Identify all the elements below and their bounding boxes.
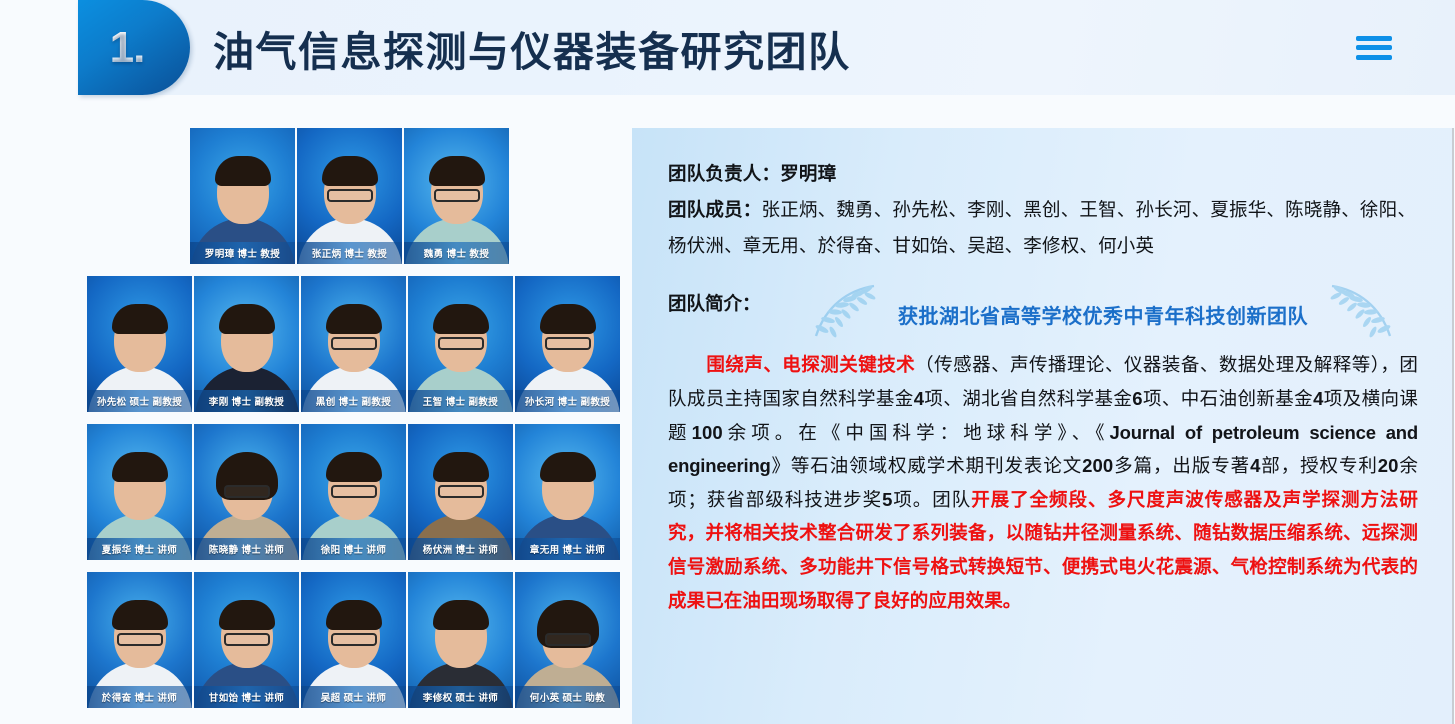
desc-seg7: 多篇，出版专著 (1113, 455, 1250, 476)
desc-seg6: 》等石油领域权威学术期刊发表论文 (771, 455, 1083, 476)
portrait-glasses (117, 633, 163, 646)
laurel-branch-left-icon (808, 282, 882, 346)
photo-row: 孙先松 硕士 副教授李刚 博士 副教授黑创 博士 副教授王智 博士 副教授孙长河… (87, 276, 617, 412)
member-photo-card[interactable]: 章无用 博士 讲师 (515, 424, 620, 560)
section-number-badge: 1. (78, 0, 190, 95)
portrait-hair (326, 452, 382, 482)
portrait-hair (433, 304, 489, 334)
portrait-glasses (327, 189, 373, 202)
member-photo-card[interactable]: 黑创 博士 副教授 (301, 276, 406, 412)
portrait-glasses (438, 485, 484, 498)
desc-seg8: 部，授权专利 (1260, 455, 1377, 476)
portrait-glasses (331, 633, 377, 646)
portrait-hair (326, 600, 382, 630)
menu-bar-2 (1356, 45, 1392, 50)
menu-bar-3 (1356, 55, 1392, 60)
hamburger-menu-icon[interactable] (1356, 36, 1392, 60)
photo-row: 夏振华 博士 讲师陈晓静 博士 讲师徐阳 博士 讲师杨伏洲 博士 讲师章无用 博… (87, 424, 617, 560)
portrait-glasses (331, 485, 377, 498)
member-photo-caption: 夏振华 博士 讲师 (87, 538, 192, 560)
team-leader-label: 团队负责人： (668, 163, 780, 184)
team-description-paragraph: 围绕声、电探测关键技术（传感器、声传播理论、仪器装备、数据处理及解释等），团队成… (668, 348, 1418, 617)
portrait-hair (112, 452, 168, 482)
section-number-label: 1. (78, 23, 176, 73)
member-photo-caption: 孙长河 博士 副教授 (515, 390, 620, 412)
member-photo-card[interactable]: 甘如饴 博士 讲师 (194, 572, 299, 708)
portrait-glasses (331, 337, 377, 350)
member-photo-caption: 杨伏洲 博士 讲师 (408, 538, 513, 560)
desc-seg2: 项、湖北省自然科学基金 (924, 388, 1132, 409)
member-photo-caption: 何小英 硕士 助教 (515, 686, 620, 708)
member-photo-caption: 王智 博士 副教授 (408, 390, 513, 412)
member-photo-card[interactable]: 孙长河 博士 副教授 (515, 276, 620, 412)
page-root: 1. 油气信息探测与仪器装备研究团队 罗明璋 博士 教授张正炳 博士 教授魏勇 … (0, 0, 1455, 724)
member-photo-card[interactable]: 王智 博士 副教授 (408, 276, 513, 412)
desc-num-8: 5 (882, 489, 892, 510)
desc-num-2: 6 (1132, 388, 1142, 409)
portrait-glasses (438, 337, 484, 350)
portrait-hair (219, 304, 275, 334)
member-photo-card[interactable]: 李刚 博士 副教授 (194, 276, 299, 412)
photo-row: 罗明璋 博士 教授张正炳 博士 教授魏勇 博士 教授 (190, 128, 617, 264)
member-photo-caption: 陈晓静 博士 讲师 (194, 538, 299, 560)
desc-num-7: 20 (1378, 455, 1399, 476)
desc-seg10: 项。团队 (892, 489, 971, 510)
desc-num-1: 4 (914, 388, 924, 409)
member-photo-caption: 罗明璋 博士 教授 (190, 242, 295, 264)
portrait-hair (215, 156, 271, 186)
member-photo-caption: 魏勇 博士 教授 (404, 242, 509, 264)
member-photo-card[interactable]: 陈晓静 博士 讲师 (194, 424, 299, 560)
member-photo-card[interactable]: 吴超 硕士 讲师 (301, 572, 406, 708)
member-photo-card[interactable]: 张正炳 博士 教授 (297, 128, 402, 264)
member-photo-card[interactable]: 孙先松 硕士 副教授 (87, 276, 192, 412)
member-photo-caption: 於得奋 博士 讲师 (87, 686, 192, 708)
portrait-hair (540, 452, 596, 482)
team-members-label: 团队成员： (668, 199, 762, 220)
portrait-glasses (434, 189, 480, 202)
award-banner: 获批湖北省高等学校优秀中青年科技创新团队 (798, 286, 1408, 342)
member-photo-card[interactable]: 徐阳 博士 讲师 (301, 424, 406, 560)
member-photo-card[interactable]: 何小英 硕士 助教 (515, 572, 620, 708)
team-photo-grid: 罗明璋 博士 教授张正炳 博士 教授魏勇 博士 教授孙先松 硕士 副教授李刚 博… (87, 128, 617, 724)
desc-red-lead: 围绕声、电探测关键技术 (706, 354, 915, 375)
member-photo-card[interactable]: 於得奋 博士 讲师 (87, 572, 192, 708)
member-photo-caption: 张正炳 博士 教授 (297, 242, 402, 264)
member-photo-card[interactable]: 李修权 硕士 讲师 (408, 572, 513, 708)
member-photo-caption: 徐阳 博士 讲师 (301, 538, 406, 560)
portrait-hair (326, 304, 382, 334)
portrait-hair (433, 600, 489, 630)
portrait-hair (433, 452, 489, 482)
page-header: 1. 油气信息探测与仪器装备研究团队 (78, 0, 1455, 95)
photo-row: 於得奋 博士 讲师甘如饴 博士 讲师吴超 硕士 讲师李修权 硕士 讲师何小英 硕… (87, 572, 617, 708)
portrait-hair (112, 600, 168, 630)
portrait-hair (429, 156, 485, 186)
member-photo-card[interactable]: 罗明璋 博士 教授 (190, 128, 295, 264)
desc-seg5: 余项。在《中国科学：地球科学》、《 (723, 422, 1110, 443)
portrait-glasses (224, 633, 270, 646)
member-photo-caption: 李修权 硕士 讲师 (408, 686, 513, 708)
menu-bar-1 (1356, 36, 1392, 41)
portrait-hair (540, 304, 596, 334)
desc-num-5: 200 (1082, 455, 1113, 476)
member-photo-caption: 吴超 硕士 讲师 (301, 686, 406, 708)
member-photo-card[interactable]: 夏振华 博士 讲师 (87, 424, 192, 560)
portrait-glasses (545, 633, 591, 646)
member-photo-caption: 孙先松 硕士 副教授 (87, 390, 192, 412)
team-leader-line: 团队负责人：罗明璋 (668, 156, 1418, 192)
page-title: 油气信息探测与仪器装备研究团队 (213, 18, 851, 78)
desc-num-3: 4 (1313, 388, 1323, 409)
portrait-glasses (224, 485, 270, 498)
desc-num-4: 100 (692, 422, 723, 443)
portrait-glasses (545, 337, 591, 350)
team-leader-name: 罗明璋 (780, 163, 836, 184)
team-members-line: 团队成员：张正炳、魏勇、孙先松、李刚、黑创、王智、孙长河、夏振华、陈晓静、徐阳、… (668, 192, 1418, 264)
team-info-panel: 团队负责人：罗明璋 团队成员：张正炳、魏勇、孙先松、李刚、黑创、王智、孙长河、夏… (632, 128, 1454, 724)
portrait-hair (219, 600, 275, 630)
member-photo-caption: 李刚 博士 副教授 (194, 390, 299, 412)
member-photo-caption: 甘如饴 博士 讲师 (194, 686, 299, 708)
team-members-names: 张正炳、魏勇、孙先松、李刚、黑创、王智、孙长河、夏振华、陈晓静、徐阳、杨伏洲、章… (668, 199, 1416, 256)
member-photo-card[interactable]: 魏勇 博士 教授 (404, 128, 509, 264)
member-photo-caption: 章无用 博士 讲师 (515, 538, 620, 560)
portrait-hair (322, 156, 378, 186)
desc-num-6: 4 (1250, 455, 1260, 476)
award-banner-text: 获批湖北省高等学校优秀中青年科技创新团队 (898, 300, 1308, 329)
member-photo-card[interactable]: 杨伏洲 博士 讲师 (408, 424, 513, 560)
desc-seg3: 项、中石油创新基金 (1143, 388, 1313, 409)
member-photo-caption: 黑创 博士 副教授 (301, 390, 406, 412)
laurel-branch-right-icon (1324, 282, 1398, 346)
portrait-hair (112, 304, 168, 334)
